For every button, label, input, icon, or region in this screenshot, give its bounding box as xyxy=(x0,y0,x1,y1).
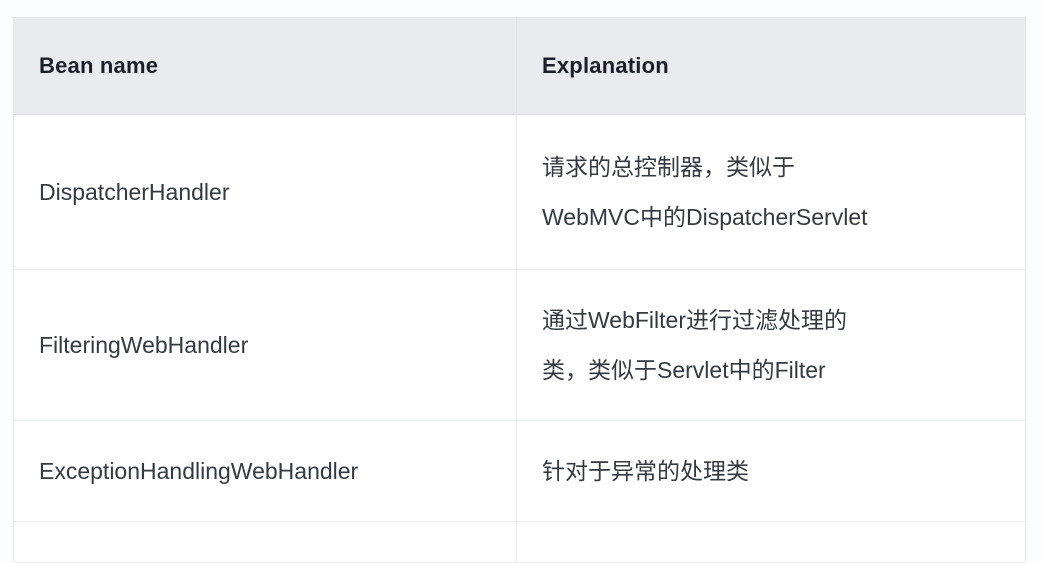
explanation-line: 类，类似于Servlet中的Filter xyxy=(542,345,1011,395)
cell-explanation: 通过WebFilter进行过滤处理的 类，类似于Servlet中的Filter xyxy=(517,270,1026,421)
cell-bean-name: FilteringWebHandler xyxy=(14,270,517,421)
table-header: Bean name Explanation xyxy=(14,18,1026,115)
table-row: ExceptionHandlingWebHandler 针对于异常的处理类 xyxy=(14,421,1026,522)
cell-bean-name: ExceptionHandlingWebHandler xyxy=(14,421,517,522)
table-row-partial xyxy=(14,522,1026,563)
table-header-row: Bean name Explanation xyxy=(14,18,1026,115)
table-row: DispatcherHandler 请求的总控制器，类似于 WebMVC中的Di… xyxy=(14,115,1026,270)
explanation-line: 针对于异常的处理类 xyxy=(542,446,1011,496)
cell-explanation: 请求的总控制器，类似于 WebMVC中的DispatcherServlet xyxy=(517,115,1026,270)
table-container: Bean name Explanation DispatcherHandler … xyxy=(13,17,1025,563)
cell-explanation: 针对于异常的处理类 xyxy=(517,421,1026,522)
table-row: FilteringWebHandler 通过WebFilter进行过滤处理的 类… xyxy=(14,270,1026,421)
table-body: DispatcherHandler 请求的总控制器，类似于 WebMVC中的Di… xyxy=(14,115,1026,563)
cell-explanation-partial xyxy=(517,522,1026,563)
column-header-bean-name: Bean name xyxy=(14,18,517,115)
explanation-line: 请求的总控制器，类似于 xyxy=(542,142,1011,192)
explanation-line: 通过WebFilter进行过滤处理的 xyxy=(542,295,1011,345)
column-header-explanation: Explanation xyxy=(517,18,1026,115)
cell-bean-name: DispatcherHandler xyxy=(14,115,517,270)
cell-bean-name-partial xyxy=(14,522,517,563)
bean-explanation-table: Bean name Explanation DispatcherHandler … xyxy=(13,17,1026,563)
explanation-line: WebMVC中的DispatcherServlet xyxy=(542,192,1011,242)
